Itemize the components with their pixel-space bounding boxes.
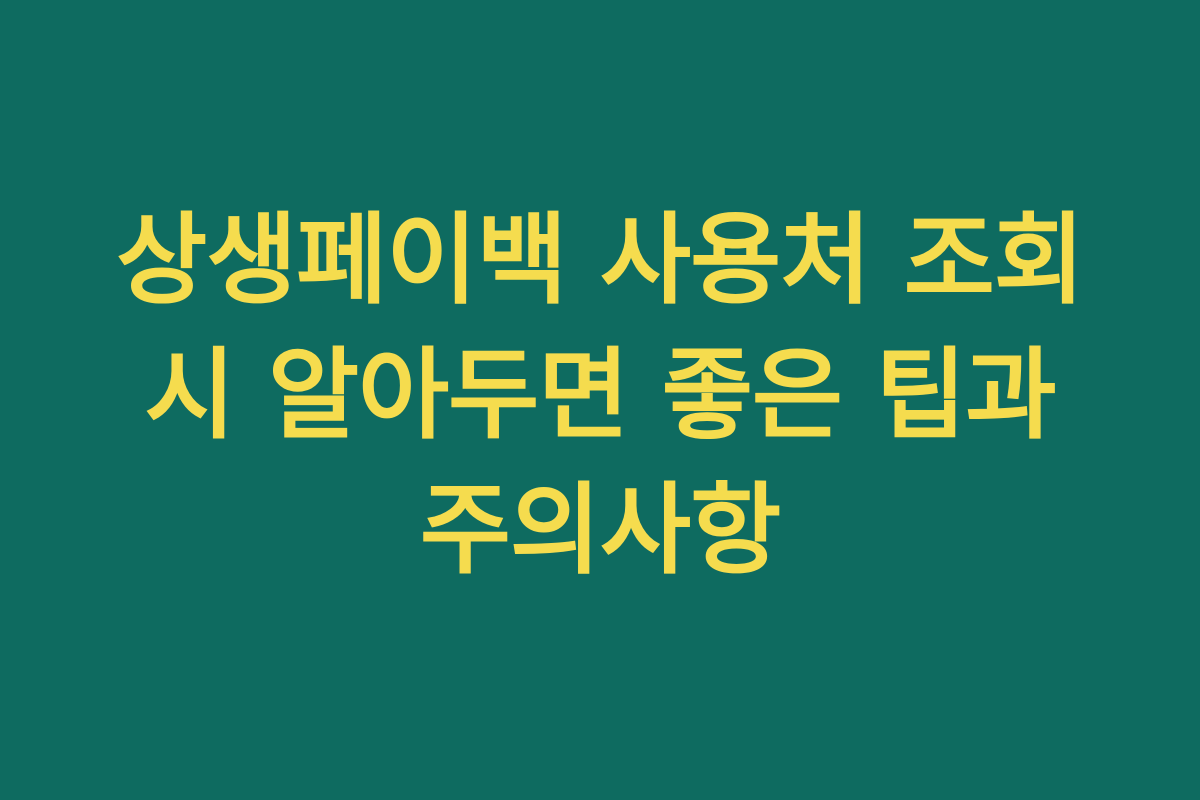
title-line-2: 시 알아두면 좋은 팁과 (144, 328, 1055, 463)
title-banner: 상생페이백 사용처 조회 시 알아두면 좋은 팁과 주의사항 (0, 0, 1200, 800)
title-line-3: 주의사항 (420, 463, 780, 598)
page-title: 상생페이백 사용처 조회 시 알아두면 좋은 팁과 주의사항 (50, 193, 1150, 598)
title-line-1: 상생페이백 사용처 조회 (116, 193, 1084, 328)
